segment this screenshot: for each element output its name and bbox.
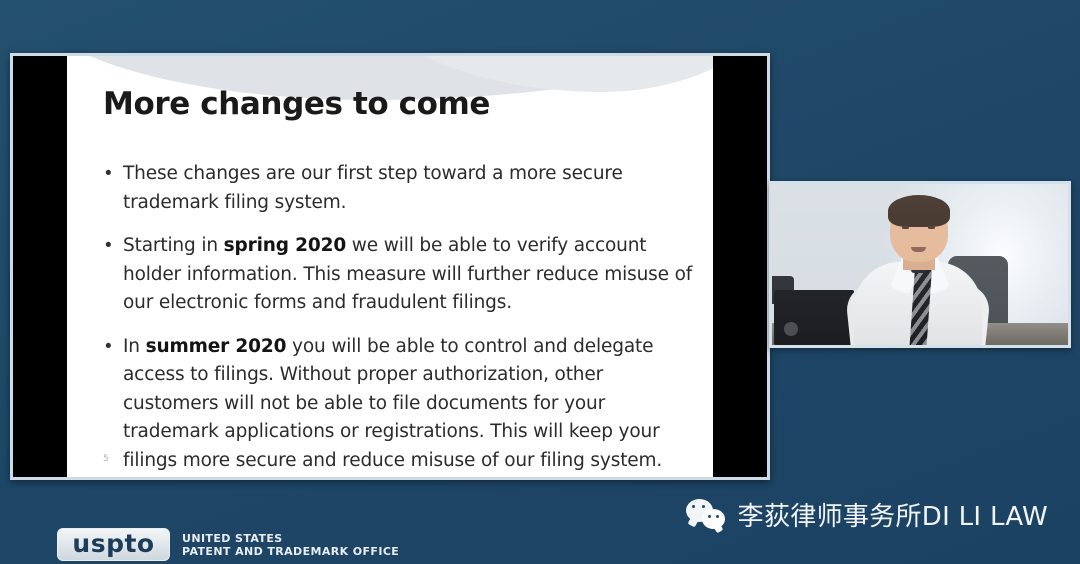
bullet-segment: These changes are our first step toward … xyxy=(123,163,623,213)
list-item: • These changes are our first step towar… xyxy=(101,160,699,217)
list-item: • Starting in spring 2020 we will be abl… xyxy=(101,232,699,318)
bullet-marker-icon: • xyxy=(101,333,123,362)
wechat-dot xyxy=(708,515,711,518)
bullet-text: These changes are our first step toward … xyxy=(123,160,699,217)
eye-right xyxy=(928,226,935,229)
slide-page-number: 5 xyxy=(103,454,109,464)
slide-bullet-list: • These changes are our first step towar… xyxy=(101,160,699,477)
bullet-marker-icon: • xyxy=(101,232,123,261)
uspto-wordmark-text: uspto xyxy=(72,531,154,556)
wechat-dot xyxy=(716,515,719,518)
wechat-icon xyxy=(686,498,728,532)
bullet-marker-icon: • xyxy=(101,160,123,189)
wechat-bubble-small xyxy=(702,509,725,529)
bullet-segment-emphasis: spring 2020 xyxy=(224,235,346,256)
slide-canvas: More changes to come • These changes are… xyxy=(67,56,713,477)
bullet-segment-emphasis: summer 2020 xyxy=(146,336,287,357)
wechat-dot xyxy=(702,505,705,508)
presenter-video-tile[interactable] xyxy=(769,181,1071,348)
bullet-segment: In xyxy=(123,336,146,357)
uspto-logo: uspto UNITED STATES PATENT AND TRADEMARK… xyxy=(57,528,399,561)
wechat-account-name: 李荻律师事务所DI LI LAW xyxy=(738,496,1048,533)
uspto-agency-name: UNITED STATES PATENT AND TRADEMARK OFFIC… xyxy=(182,532,399,558)
bullet-text: In summer 2020 you will be able to contr… xyxy=(123,333,699,476)
shared-slide-frame[interactable]: More changes to come • These changes are… xyxy=(10,53,770,480)
uspto-agency-line-2: PATENT AND TRADEMARK OFFICE xyxy=(182,545,399,558)
slide-title: More changes to come xyxy=(103,86,490,122)
bullet-text: Starting in spring 2020 we will be able … xyxy=(123,232,699,318)
video-feed xyxy=(772,184,1068,345)
presenter-hair xyxy=(888,195,950,227)
laptop-screen xyxy=(774,290,854,345)
laptop-logo-icon xyxy=(784,322,798,336)
uspto-agency-line-1: UNITED STATES xyxy=(182,532,399,545)
bullet-segment: Starting in xyxy=(123,235,224,256)
wechat-watermark: 李荻律师事务所DI LI LAW xyxy=(686,496,1048,533)
wechat-dot xyxy=(692,505,695,508)
list-item: • In summer 2020 you will be able to con… xyxy=(101,333,699,476)
eye-left xyxy=(902,226,909,229)
uspto-wordmark-icon: uspto xyxy=(57,528,170,561)
screen-share-stage: More changes to come • These changes are… xyxy=(0,0,1080,564)
